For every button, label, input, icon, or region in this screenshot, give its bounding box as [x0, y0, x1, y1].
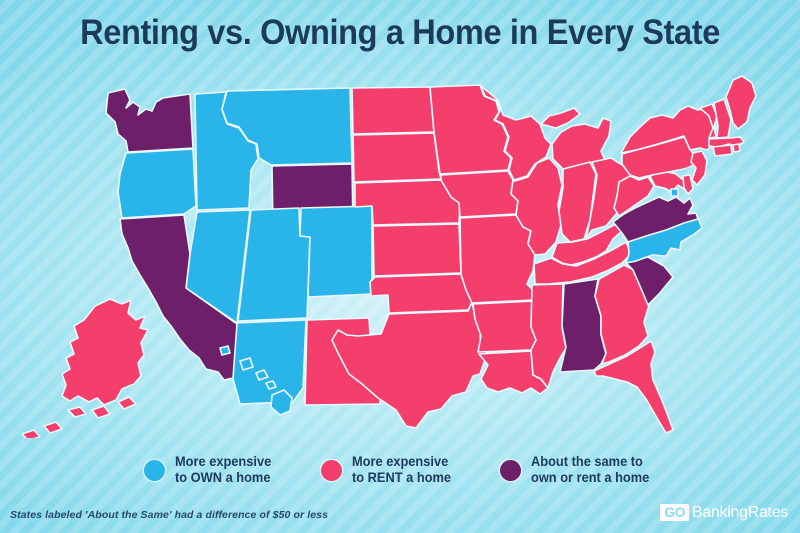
state-ND[interactable]: [352, 87, 434, 134]
state-OR[interactable]: [118, 149, 196, 218]
legend-item-same[interactable]: About the same to own or rent a home: [500, 454, 656, 486]
legend-item-rent[interactable]: More expensive to RENT a home: [321, 454, 456, 486]
circle-swatch-icon-own: [144, 460, 165, 481]
legend-label-own: More expensive to OWN a home: [175, 454, 271, 486]
circle-swatch-icon-rent: [321, 460, 342, 481]
state-UT[interactable]: [238, 208, 310, 321]
state-CT[interactable]: [713, 145, 732, 156]
state-AR[interactable]: [473, 301, 536, 352]
state-MN[interactable]: [430, 85, 511, 174]
footnote: States labeled 'About the Same' had a di…: [10, 509, 328, 521]
state-shapes: [22, 76, 756, 438]
state-WA[interactable]: [106, 89, 193, 152]
state-RI[interactable]: [733, 144, 740, 152]
legend-label-same: About the same to own or rent a home: [531, 454, 649, 486]
state-CO[interactable]: [300, 206, 372, 297]
map-svg: [0, 58, 800, 438]
us-choropleth-map: [0, 58, 800, 438]
infographic-root: Renting vs. Owning a Home in Every State: [0, 0, 800, 533]
circle-swatch-icon-same: [500, 460, 521, 481]
page-title: Renting vs. Owning a Home in Every State: [80, 15, 720, 50]
state-DC[interactable]: [671, 189, 678, 196]
legend-label-rent: More expensive to RENT a home: [352, 454, 451, 486]
legend: More expensive to OWN a home More expens…: [0, 444, 800, 496]
logo-go-mark: GO: [660, 504, 689, 521]
state-OK[interactable]: [370, 274, 473, 313]
title-bar: Renting vs. Owning a Home in Every State: [0, 8, 800, 56]
logo-wordmark: BankingRates: [692, 505, 788, 521]
state-DE[interactable]: [683, 175, 693, 194]
state-KS[interactable]: [373, 224, 461, 276]
state-NJ[interactable]: [691, 151, 707, 185]
gobankingrates-logo[interactable]: GO BankingRates: [660, 504, 788, 521]
state-SD[interactable]: [353, 133, 441, 182]
state-AK[interactable]: [22, 299, 148, 438]
legend-item-own[interactable]: More expensive to OWN a home: [144, 454, 276, 486]
